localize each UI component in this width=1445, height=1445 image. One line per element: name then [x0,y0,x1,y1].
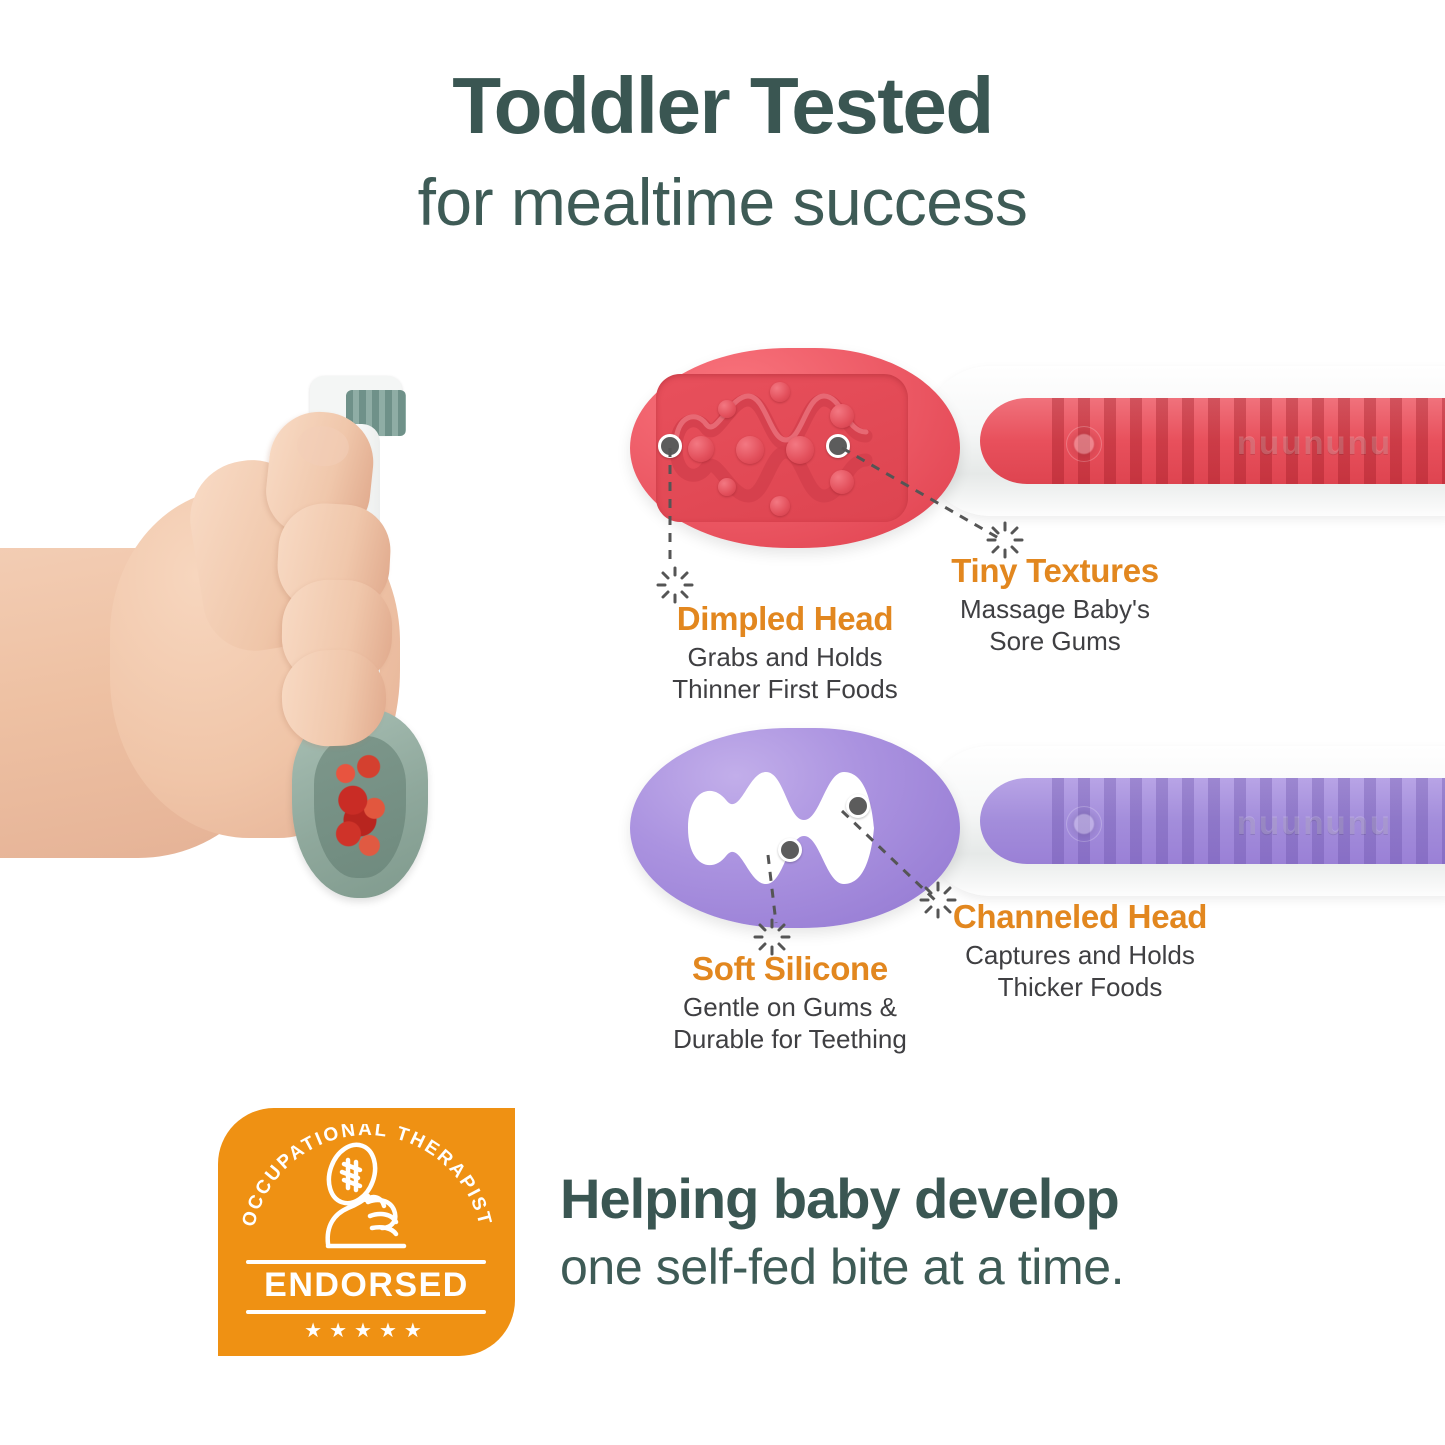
callout-title: Soft Silicone [640,950,940,988]
callout-title: Tiny Textures [905,552,1205,590]
badge-rule-top [246,1260,486,1264]
red-dimple-8 [718,400,736,418]
page-subtitle: for mealtime success [0,163,1445,242]
red-dimple-4 [830,404,854,428]
red-handle-emboss-logo [1066,426,1102,462]
callout-line-2: Thinner First Foods [635,674,935,706]
callout-tiny-textures: Tiny Textures Massage Baby's Sore Gums [905,552,1205,657]
callout-line-1: Gentle on Gums & [640,992,940,1024]
callout-line-2: Durable for Teething [640,1024,940,1056]
badge-rule-bottom [246,1310,486,1314]
callout-title: Channeled Head [910,898,1250,936]
footer-tagline: Helping baby develop one self-fed bite a… [560,1168,1360,1296]
fingernail [295,424,351,469]
tagline-line-2: one self-fed bite at a time. [560,1239,1360,1297]
callout-line-1: Captures and Holds [910,940,1250,972]
purple-handle-emboss-logo [1066,806,1102,842]
badge-star-rating: ★★★★★ [218,1318,515,1343]
callout-soft-silicone: Soft Silicone Gentle on Gums & Durable f… [640,950,940,1055]
baby-hand-photo [0,368,470,983]
red-dimple-6 [770,382,790,402]
callout-channeled-head: Channeled Head Captures and Holds Thicke… [910,898,1250,1003]
sparkle-burst-dimpled-head [655,565,695,605]
purple-handle-brand-text: nuununu [1237,804,1392,842]
callout-line-2: Thicker Foods [910,972,1250,1004]
page-title: Toddler Tested [0,64,1445,149]
callout-line-1: Massage Baby's [905,594,1205,626]
red-handle-brand-text: nuununu [1237,424,1392,462]
hand-holding-spoon-icon [304,1142,424,1254]
callout-dimpled-head: Dimpled Head Grabs and Holds Thinner Fir… [635,600,935,705]
food-on-spoon [324,748,396,864]
callout-title: Dimpled Head [635,600,935,638]
tagline-line-1: Helping baby develop [560,1168,1360,1231]
occupational-therapist-endorsed-badge: OCCUPATIONAL THERAPIST ENDORSED ★★★★★ [218,1108,515,1356]
callout-line-2: Sore Gums [905,626,1205,658]
hero-section: Toddler Tested for mealtime success [0,64,1445,242]
badge-endorsed-text: ENDORSED [218,1266,515,1305]
callout-line-1: Grabs and Holds [635,642,935,674]
held-spoon-bowl [314,736,406,878]
finger-pinky [280,648,387,748]
